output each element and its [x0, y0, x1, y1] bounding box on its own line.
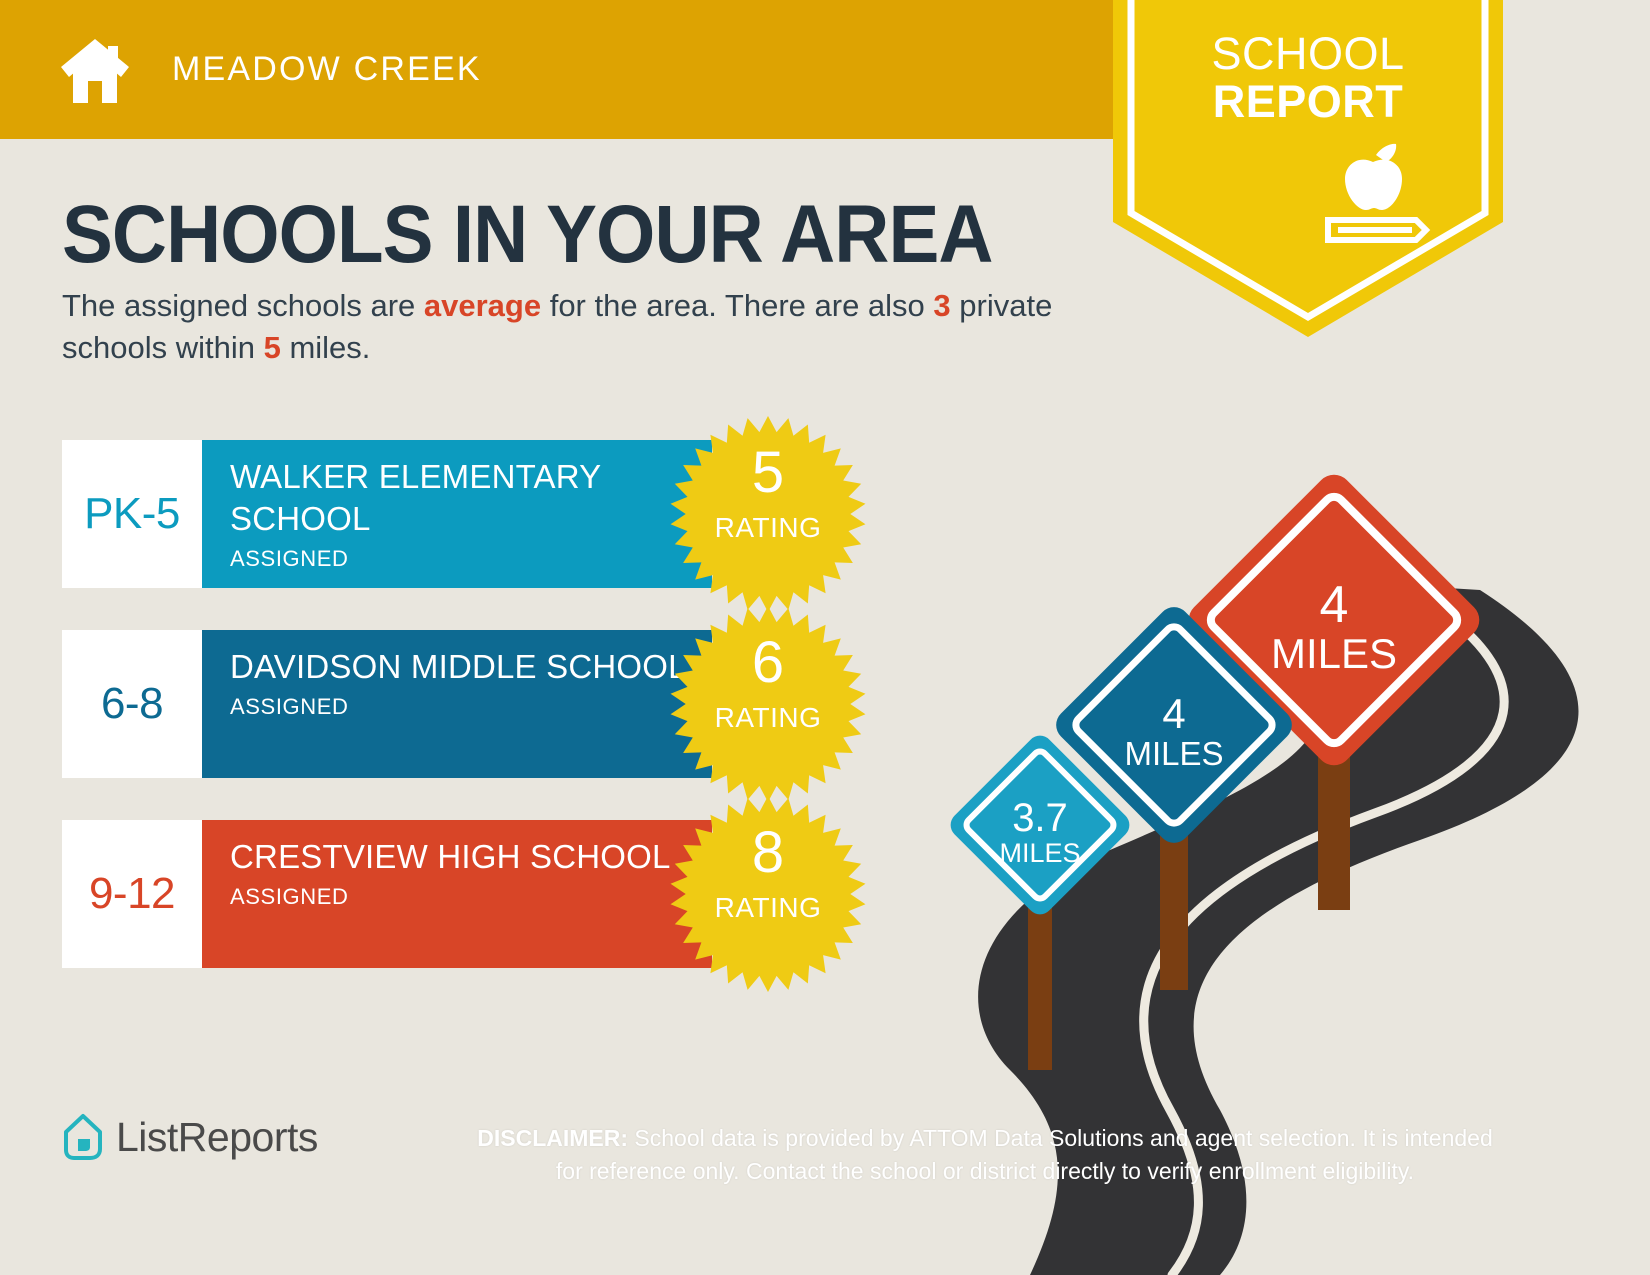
school-name: DAVIDSON MIDDLE SCHOOL: [230, 646, 712, 688]
subtitle-text-4: miles.: [281, 330, 371, 365]
rating-value: 5: [670, 444, 866, 502]
subtitle-text-2: for the area. There are also: [541, 288, 933, 323]
disclaimer-label: DISCLAIMER:: [477, 1125, 628, 1151]
rating-label: RATING: [670, 512, 866, 544]
disclaimer-text: DISCLAIMER: School data is provided by A…: [455, 1122, 1515, 1188]
infographic-canvas: MEADOW CREEK SCHOOL REPORT SCHOOLS IN YO…: [0, 0, 1650, 1275]
grade-range-label: 6-8: [101, 679, 163, 729]
page-subtitle: The assigned schools are average for the…: [62, 285, 1112, 369]
grade-range-badge: PK-5: [62, 440, 202, 588]
subtitle-highlight-count: 3: [933, 288, 950, 323]
rating-value: 8: [670, 824, 866, 882]
school-row[interactable]: 6-8 DAVIDSON MIDDLE SCHOOL ASSIGNED 6 RA…: [62, 630, 712, 778]
rating-starburst: 8 RATING: [670, 796, 866, 992]
listreports-wordmark: ListReports: [116, 1114, 318, 1161]
school-info-bar: WALKER ELEMENTARY SCHOOL ASSIGNED: [202, 440, 712, 588]
grade-range-badge: 9-12: [62, 820, 202, 968]
badge-line1: SCHOOL: [1113, 30, 1503, 78]
subtitle-highlight-average: average: [424, 288, 541, 323]
school-info-bar: DAVIDSON MIDDLE SCHOOL ASSIGNED: [202, 630, 712, 778]
school-row[interactable]: 9-12 CRESTVIEW HIGH SCHOOL ASSIGNED 8 RA…: [62, 820, 712, 968]
disclaimer-line-2: for reference only. Contact the school o…: [455, 1155, 1515, 1188]
grade-range-badge: 6-8: [62, 630, 202, 778]
rating-starburst: 6 RATING: [670, 606, 866, 802]
school-name: CRESTVIEW HIGH SCHOOL: [230, 836, 712, 878]
disclaimer-line-1: DISCLAIMER: School data is provided by A…: [455, 1122, 1515, 1155]
brand-name: MEADOW CREEK: [172, 50, 482, 89]
school-status: ASSIGNED: [230, 544, 712, 574]
school-row[interactable]: PK-5 WALKER ELEMENTARY SCHOOL ASSIGNED 5…: [62, 440, 712, 588]
home-icon: [58, 33, 132, 107]
subtitle-text-1: The assigned schools are: [62, 288, 424, 323]
rating-starburst: 5 RATING: [670, 416, 866, 612]
rating-label: RATING: [670, 702, 866, 734]
badge-title: SCHOOL REPORT: [1113, 30, 1503, 126]
school-report-badge: SCHOOL REPORT: [1113, 0, 1503, 337]
school-info-bar: CRESTVIEW HIGH SCHOOL ASSIGNED: [202, 820, 712, 968]
grade-range-label: 9-12: [89, 869, 175, 919]
school-list: PK-5 WALKER ELEMENTARY SCHOOL ASSIGNED 5…: [62, 440, 712, 1010]
rating-value: 6: [670, 634, 866, 692]
school-name: WALKER ELEMENTARY SCHOOL: [230, 456, 712, 540]
subtitle-highlight-miles: 5: [264, 330, 281, 365]
school-status: ASSIGNED: [230, 692, 712, 722]
badge-line2: REPORT: [1113, 78, 1503, 126]
header-bar: MEADOW CREEK: [0, 0, 1230, 139]
listreports-house-pin-icon: [62, 1113, 104, 1161]
page-title: SCHOOLS IN YOUR AREA: [62, 188, 993, 282]
listreports-logo[interactable]: ListReports: [62, 1113, 318, 1161]
grade-range-label: PK-5: [84, 489, 180, 539]
rating-label: RATING: [670, 892, 866, 924]
school-status: ASSIGNED: [230, 882, 712, 912]
disclaimer-body-1: School data is provided by ATTOM Data So…: [628, 1125, 1493, 1151]
